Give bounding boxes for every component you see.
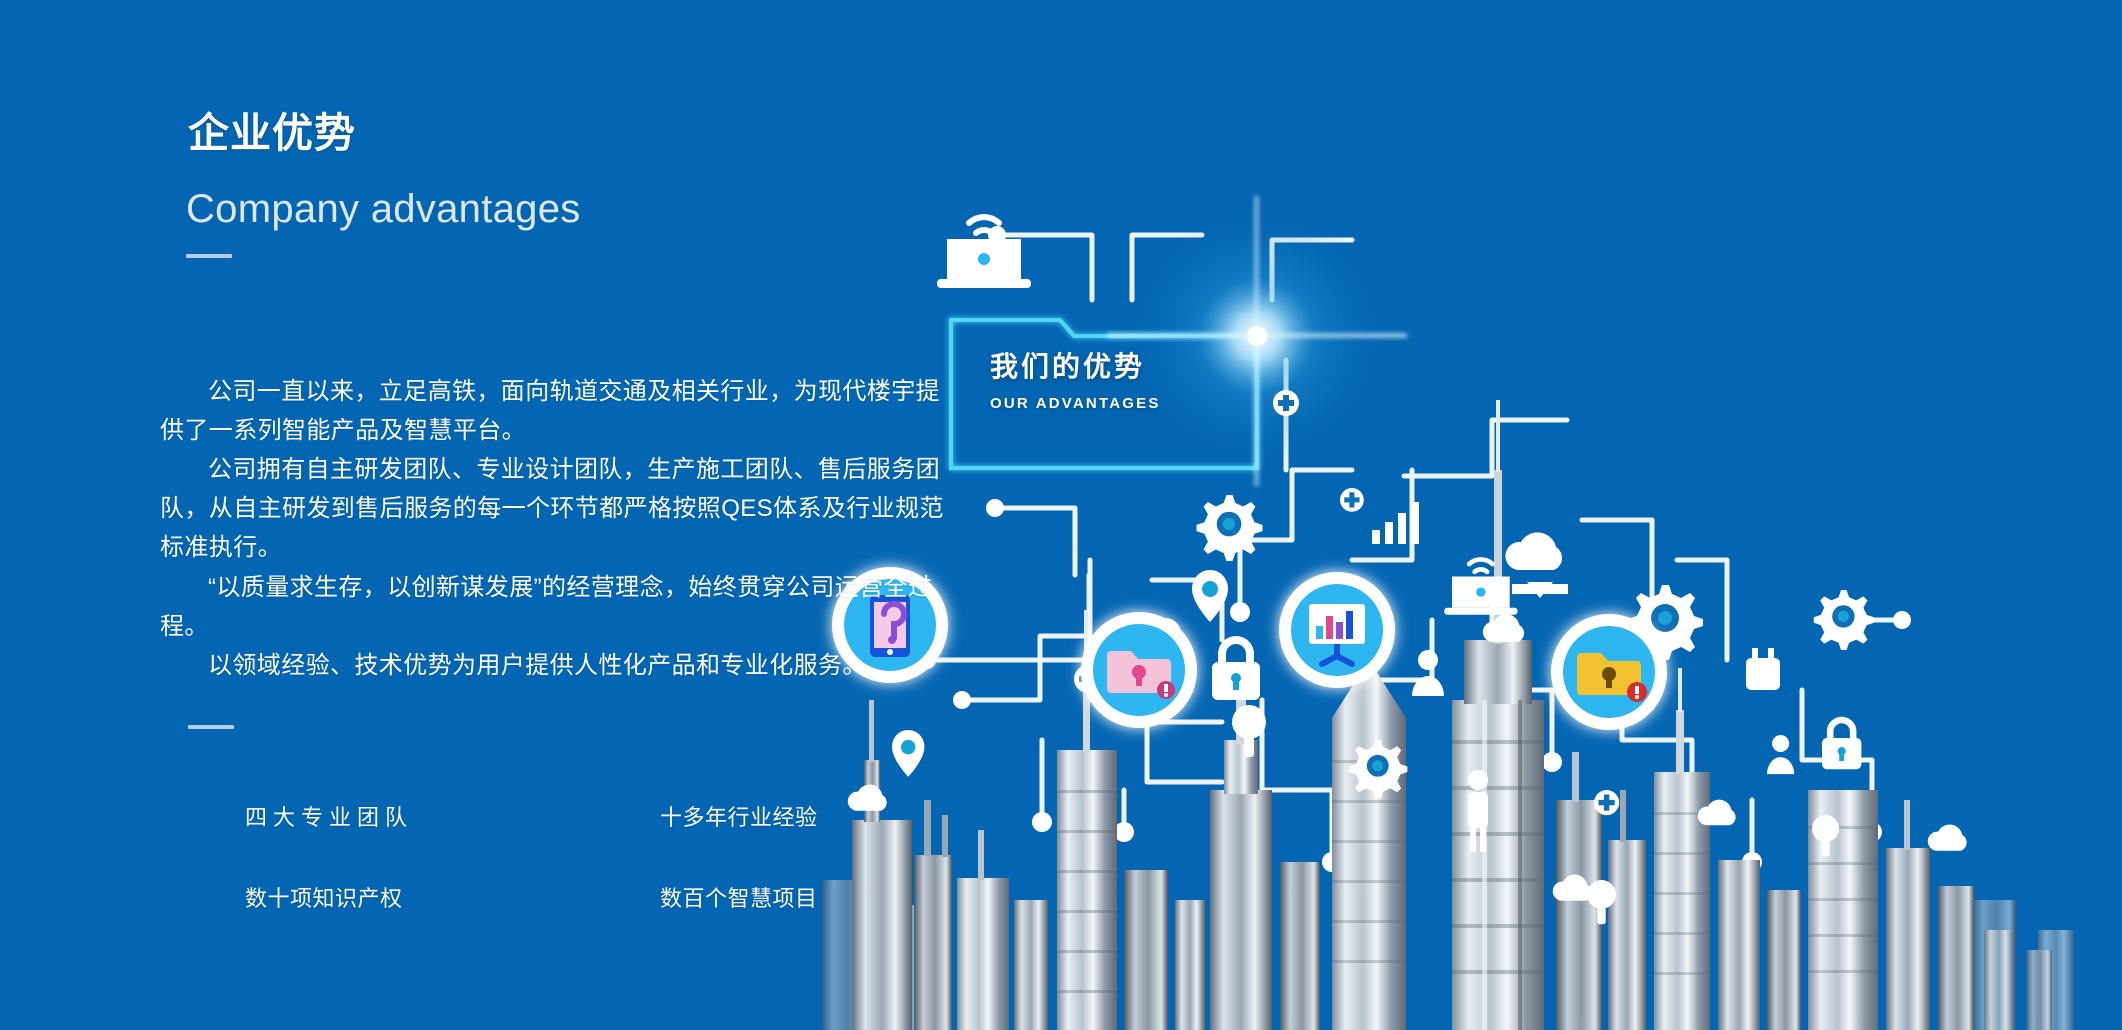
page-title-en: Company advantages: [186, 185, 581, 233]
stats-grid: 四大专业团队 十多年行业经验 数十项知识产权 数百个智慧项目: [245, 800, 885, 962]
stat-item-patents: 数十项知识产权: [245, 881, 660, 962]
stat-item-projects: 数百个智慧项目: [660, 881, 818, 962]
paragraph: 公司拥有自主研发团队、专业设计团队，生产施工团队、售后服务团队，从自主研发到售后…: [160, 450, 960, 567]
paragraph: “以质量求生存，以创新谋发展”的经营理念，始终贯穿公司运营全过程。: [160, 568, 960, 646]
stats-row: 数十项知识产权 数百个智慧项目: [245, 881, 885, 962]
content-column: 企业优势 Company advantages 公司一直以来，立足高铁，面向轨道…: [0, 0, 1030, 1030]
stat-item-teams: 四大专业团队: [245, 800, 660, 881]
title-divider: [186, 254, 232, 258]
body-copy: 公司一直以来，立足高铁，面向轨道交通及相关行业，为现代楼宇提供了一系列智能产品及…: [160, 372, 960, 685]
stat-item-experience: 十多年行业经验: [660, 800, 818, 881]
page-title-cn: 企业优势: [188, 109, 356, 158]
stats-row: 四大专业团队 十多年行业经验: [245, 800, 885, 881]
paragraph: 公司一直以来，立足高铁，面向轨道交通及相关行业，为现代楼宇提供了一系列智能产品及…: [160, 372, 960, 450]
company-advantages-banner: 我们的优势 OUR ADVANTAGES 企业优势 Company advant…: [0, 0, 2122, 1030]
stats-divider: [188, 725, 234, 729]
paragraph: 以领域经验、技术优势为用户提供人性化产品和专业化服务。: [160, 646, 960, 685]
